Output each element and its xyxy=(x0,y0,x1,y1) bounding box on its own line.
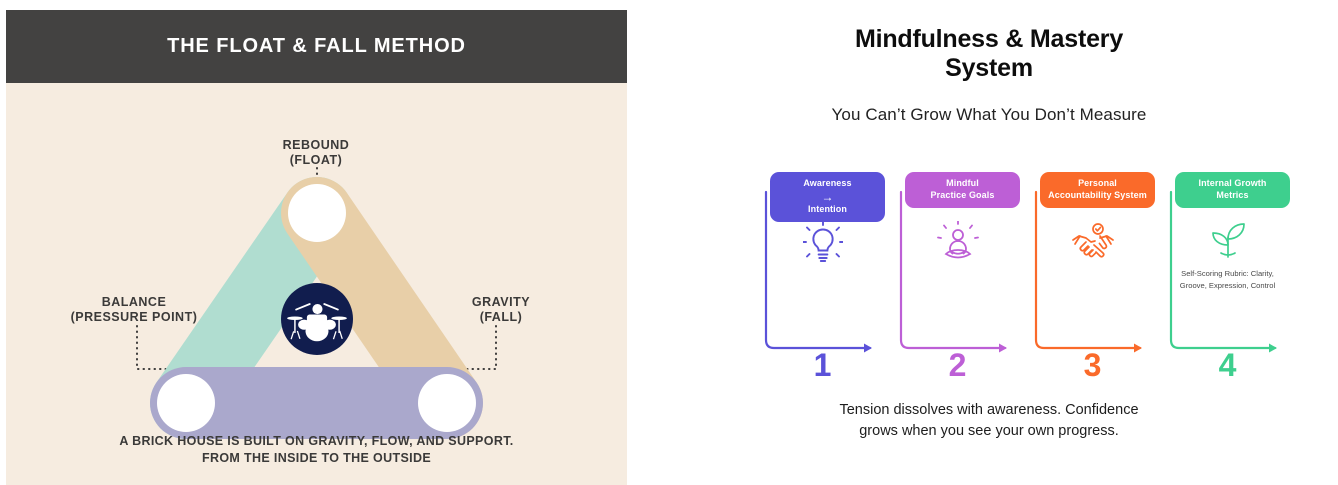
vertex-node-top xyxy=(288,184,346,242)
step-card-1[interactable]: Awareness → Intention xyxy=(760,172,885,382)
right-footer-line1: Tension dissolves with awareness. Confid… xyxy=(839,402,1138,418)
node-label-gravity: GRAVITY (FALL) xyxy=(406,295,596,325)
step-3-frame xyxy=(1030,188,1155,366)
node-label-balance: BALANCE (PRESSURE POINT) xyxy=(34,295,234,325)
right-footer-line2: grows when you see your own progress. xyxy=(859,423,1119,439)
step-1-number: 1 xyxy=(760,348,885,382)
step-3-chip-line2: Accountability System xyxy=(1048,190,1147,200)
right-title-line2: System xyxy=(945,54,1033,82)
right-panel-subtitle: You Can’t Grow What You Don’t Measure xyxy=(689,105,1289,125)
vertex-node-right xyxy=(418,374,476,432)
handshake-icon xyxy=(1030,217,1155,267)
step-2-chip: Mindful Practice Goals xyxy=(905,172,1020,208)
step-1-chip: Awareness → Intention xyxy=(770,172,885,222)
node-label-gravity-line2: (FALL) xyxy=(480,310,523,324)
left-panel-title: THE FLOAT & FALL METHOD xyxy=(167,35,466,58)
step-2-number: 2 xyxy=(895,348,1020,382)
steps-flow: Awareness → Intention xyxy=(760,172,1320,382)
meditation-icon xyxy=(895,217,1020,267)
step-4-chip: Internal Growth Metrics xyxy=(1175,172,1290,208)
slide-canvas: THE FLOAT & FALL METHOD xyxy=(0,0,1338,485)
step-4-number: 4 xyxy=(1165,348,1290,382)
left-footer-line2: FROM THE INSIDE TO THE OUTSIDE xyxy=(202,451,431,465)
left-panel-footer: A BRICK HOUSE IS BUILT ON GRAVITY, FLOW,… xyxy=(6,433,627,467)
step-3-number: 3 xyxy=(1030,348,1155,382)
step-2-chip-line2: Practice Goals xyxy=(931,190,995,200)
node-label-balance-line2: (PRESSURE POINT) xyxy=(71,310,198,324)
step-card-3[interactable]: Personal Accountability System xyxy=(1030,172,1155,382)
step-1-chip-line2: Intention xyxy=(808,204,847,214)
step-4-chip-line1: Internal Growth xyxy=(1198,178,1266,188)
node-label-rebound-line2: (FLOAT) xyxy=(290,153,343,167)
right-title-line1: Mindfulness & Mastery xyxy=(855,25,1123,53)
right-panel: Mindfulness & Mastery System You Can’t G… xyxy=(640,0,1338,485)
step-3-chip-line1: Personal xyxy=(1078,178,1117,188)
node-label-rebound-line1: REBOUND xyxy=(283,138,350,152)
step-1-chip-line1: Awareness xyxy=(803,178,851,188)
arrow-right-icon: → xyxy=(774,191,881,203)
lightbulb-icon xyxy=(760,217,885,267)
right-panel-footer: Tension dissolves with awareness. Confid… xyxy=(739,400,1239,442)
vertex-node-left xyxy=(157,374,215,432)
left-footer-line1: A BRICK HOUSE IS BUILT ON GRAVITY, FLOW,… xyxy=(119,434,513,448)
float-fall-triangle-diagram: REBOUND (FLOAT) BALANCE (PRESSURE POINT)… xyxy=(6,83,627,485)
sprout-icon xyxy=(1165,217,1290,267)
right-panel-title: Mindfulness & Mastery System xyxy=(689,25,1289,83)
step-card-2[interactable]: Mindful Practice Goals xyxy=(895,172,1020,382)
step-3-chip: Personal Accountability System xyxy=(1040,172,1155,208)
step-card-4[interactable]: Internal Growth Metrics xyxy=(1165,172,1290,382)
left-panel-header: THE FLOAT & FALL METHOD xyxy=(6,10,627,83)
step-2-frame xyxy=(895,188,1020,366)
step-4-chip-line2: Metrics xyxy=(1216,190,1248,200)
step-4-body: Self-Scoring Rubric: Clarity, Groove, Ex… xyxy=(1171,268,1284,291)
node-label-gravity-line1: GRAVITY xyxy=(472,295,530,309)
left-panel: THE FLOAT & FALL METHOD xyxy=(6,10,627,485)
node-label-rebound: REBOUND (FLOAT) xyxy=(256,138,376,168)
step-2-chip-line1: Mindful xyxy=(946,178,979,188)
node-label-balance-line1: BALANCE xyxy=(102,295,167,309)
